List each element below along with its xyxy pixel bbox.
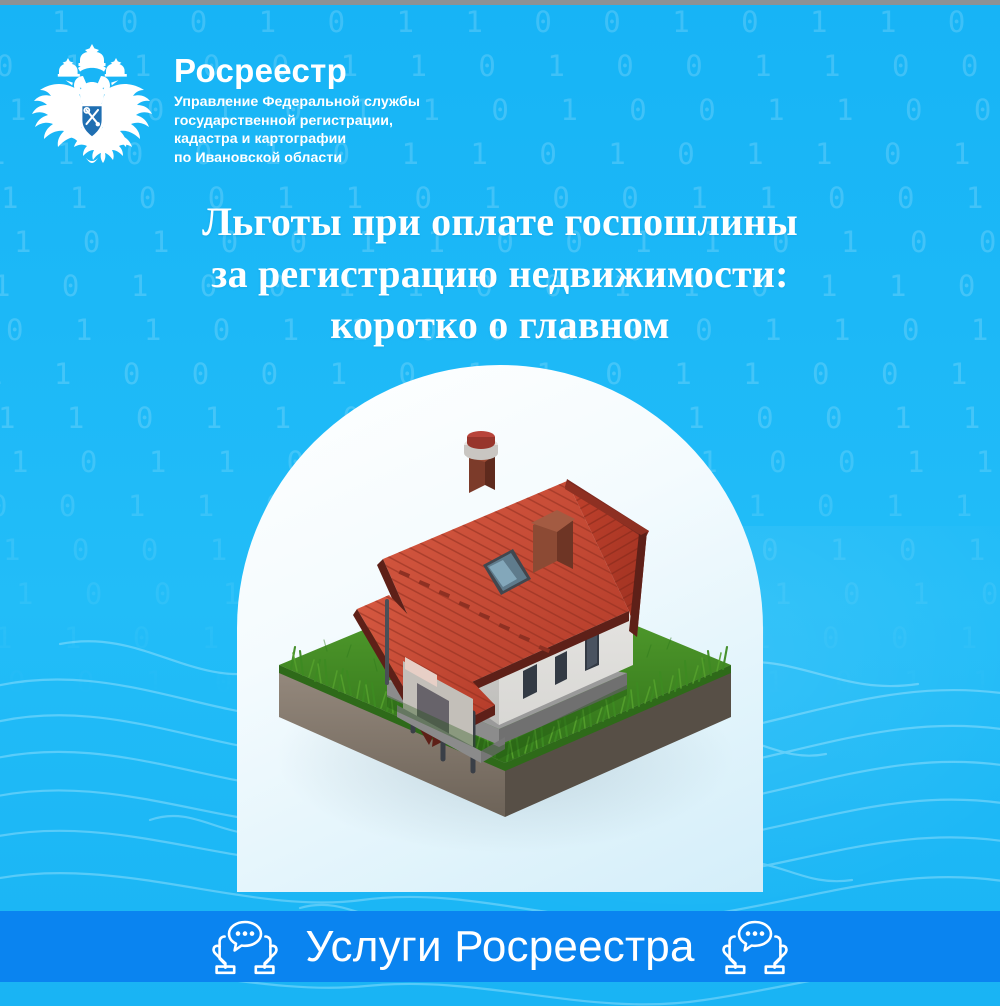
headline: Льготы при оплате госпошлины за регистра… — [0, 196, 1000, 351]
headline-line-1: Льготы при оплате госпошлины — [0, 196, 1000, 248]
top-edge-strip — [0, 0, 1000, 5]
headline-line-2: за регистрацию недвижимости: — [0, 248, 1000, 300]
brand-subtitle-line-3: кадастра и картографии — [174, 130, 420, 148]
brand-header: Росреестр Управление Федеральной службы … — [28, 38, 420, 170]
brand-text-block: Росреестр Управление Федеральной службы … — [174, 38, 420, 167]
brand-subtitle: Управление Федеральной службы государств… — [174, 93, 420, 167]
rosreestr-double-headed-eagle-emblem-icon — [28, 38, 156, 170]
headline-line-3: коротко о главном — [0, 299, 1000, 351]
image-panel — [237, 365, 763, 892]
brand-subtitle-line-2: государственной регистрации, — [174, 112, 420, 130]
house-illustration — [237, 365, 763, 892]
hands-holding-speech-bubble-icon-right — [721, 919, 789, 975]
brand-subtitle-line-1: Управление Федеральной службы — [174, 93, 420, 111]
poster-canvas: 1 1 0 0 1 0 1 1 0 0 1 0 1 1 0 1 1 0 0 1 … — [0, 0, 1000, 1006]
brand-subtitle-line-4: по Ивановской области — [174, 149, 420, 167]
banner-label: Услуги Росреестра — [305, 925, 694, 969]
hands-holding-speech-bubble-icon-left — [211, 919, 279, 975]
bottom-banner[interactable]: Услуги Росреестра — [0, 911, 1000, 982]
brand-title: Росреестр — [174, 54, 420, 88]
